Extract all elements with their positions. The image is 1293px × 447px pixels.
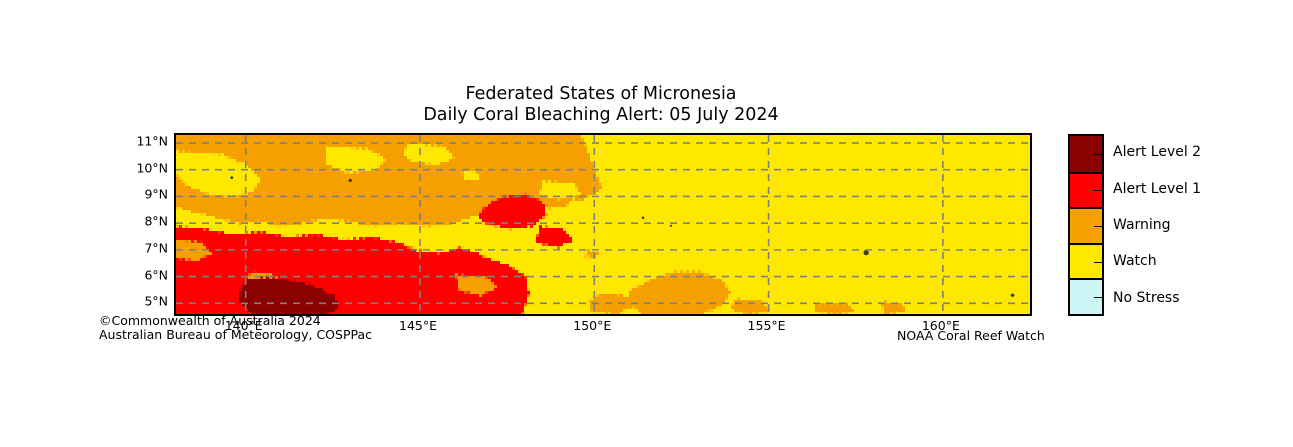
chart-title-block: Federated States of Micronesia Daily Cor… (174, 84, 1028, 126)
legend-tick-mark (1094, 154, 1103, 155)
legend-color-swatch (1070, 136, 1102, 172)
y-axis-tick-label: 6°N (144, 267, 168, 282)
y-axis-tick-label: 7°N (144, 240, 168, 255)
legend-color-swatch (1070, 172, 1102, 208)
y-axis-tick-label: 11°N (136, 134, 168, 149)
legend-label: No Stress (1113, 290, 1180, 306)
legend-label: Alert Level 2 (1113, 144, 1201, 160)
legend-color-swatch (1070, 207, 1102, 243)
source-attribution: NOAA Coral Reef Watch (897, 329, 1045, 343)
x-axis-tick-label: 155°E (748, 318, 786, 333)
y-axis-tick-labels: 5°N6°N7°N8°N9°N10°N11°N (96, 133, 168, 312)
y-axis-tick-label: 10°N (136, 160, 168, 175)
coral-alert-heatmap (176, 135, 1030, 314)
legend-tick-mark (1094, 226, 1103, 227)
x-axis-tick-label: 145°E (399, 318, 437, 333)
legend-tick-mark (1094, 190, 1103, 191)
legend-label: Alert Level 1 (1113, 181, 1201, 197)
legend-color-swatch (1070, 278, 1102, 314)
legend-color-swatch (1070, 243, 1102, 279)
y-axis-tick-label: 5°N (144, 294, 168, 309)
map-plot-area (174, 133, 1032, 316)
legend-label: Watch (1113, 253, 1157, 269)
y-axis-tick-label: 8°N (144, 214, 168, 229)
chart-subtitle: Daily Coral Bleaching Alert: 05 July 202… (174, 105, 1028, 126)
copyright-line-2: Australian Bureau of Meteorology, COSPPa… (99, 328, 372, 342)
legend-tick-mark (1094, 297, 1103, 298)
alert-level-legend (1068, 134, 1104, 316)
y-axis-tick-label: 9°N (144, 187, 168, 202)
copyright-attribution: ©Commonwealth of Australia 2024 Australi… (99, 314, 372, 341)
legend-tick-mark (1094, 262, 1103, 263)
coral-bleaching-alert-figure: Federated States of Micronesia Daily Cor… (0, 0, 1293, 447)
chart-title: Federated States of Micronesia (174, 84, 1028, 105)
copyright-line-1: ©Commonwealth of Australia 2024 (99, 314, 372, 328)
x-axis-tick-label: 150°E (573, 318, 611, 333)
legend-label: Warning (1113, 217, 1171, 233)
